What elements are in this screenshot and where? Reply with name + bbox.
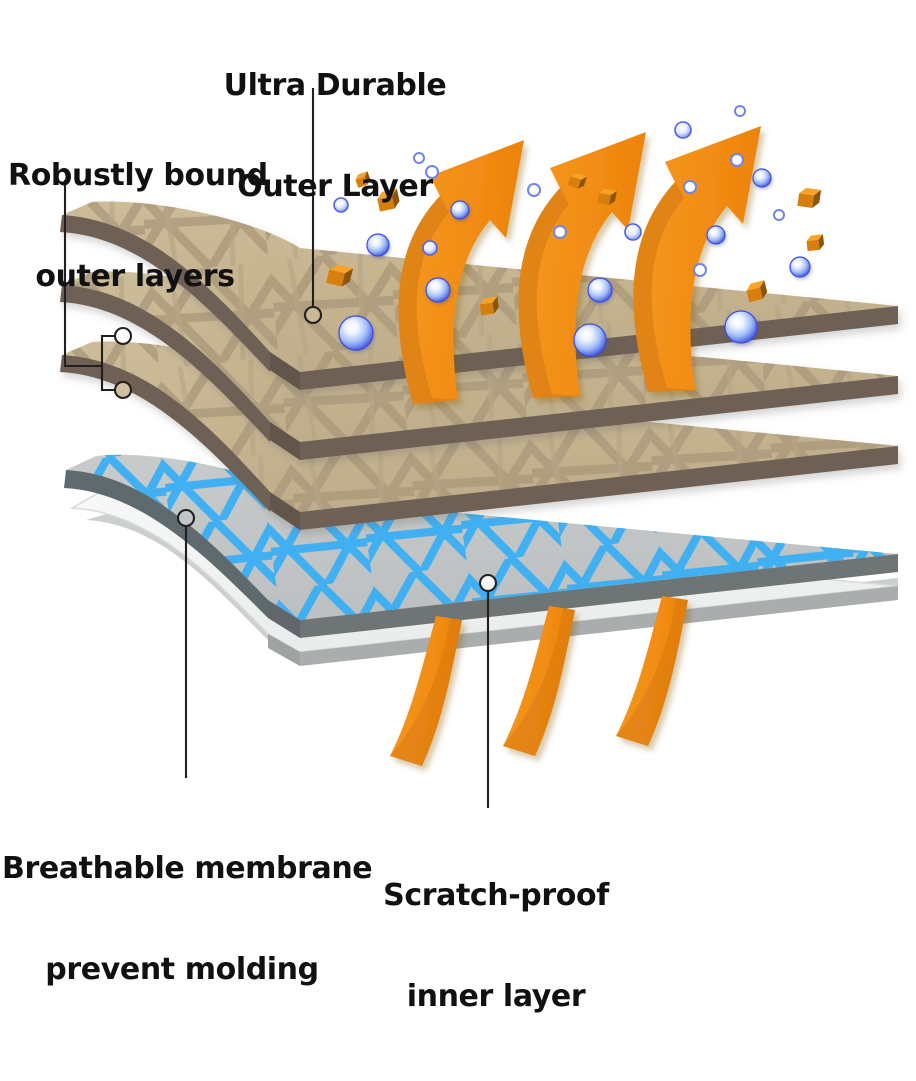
moisture-bubble: [625, 224, 641, 240]
callout-line: Robustly bound: [8, 159, 288, 193]
moisture-bubble: [675, 122, 691, 138]
moisture-bubble: [735, 106, 745, 116]
dirt-particle: [806, 234, 825, 251]
moisture-bubble: [554, 226, 566, 238]
leader-marker-ultra-durable: [305, 307, 321, 323]
moisture-bubble: [528, 184, 540, 196]
callout-breathable-membrane: Breathable membrane prevent molding: [2, 785, 362, 1054]
moisture-bubble: [426, 278, 450, 302]
callout-line: prevent molding: [2, 953, 362, 987]
moisture-bubble: [725, 311, 757, 343]
moisture-bubble: [684, 181, 696, 193]
callout-line: outer layers: [8, 260, 288, 294]
moisture-bubble: [753, 169, 771, 187]
moisture-bubble: [574, 324, 606, 356]
vapor-arrow-up-3: [633, 126, 761, 392]
layered-fabric-diagram: Ultra Durable Outer Layer Robustly bound…: [0, 0, 916, 902]
leader-marker-membrane: [178, 510, 194, 526]
moisture-bubble: [731, 154, 743, 166]
callout-line: Scratch-proof: [368, 879, 624, 913]
callout-robustly-bound-outer-layers: Robustly bound outer layers: [8, 92, 288, 361]
dirt-particle: [797, 187, 821, 209]
leader-marker-bound-b: [115, 382, 131, 398]
leader-marker-inner: [480, 575, 496, 591]
moisture-bubble: [790, 257, 810, 277]
moisture-bubble: [694, 264, 706, 276]
callout-scratch-proof-inner-layer: Scratch-proof inner layer: [368, 812, 624, 1081]
moisture-bubble: [707, 226, 725, 244]
moisture-bubble: [774, 210, 784, 220]
moisture-bubble: [339, 316, 373, 350]
moisture-bubble: [588, 278, 612, 302]
callout-line: inner layer: [368, 980, 624, 1014]
callout-line: Breathable membrane: [2, 852, 362, 886]
